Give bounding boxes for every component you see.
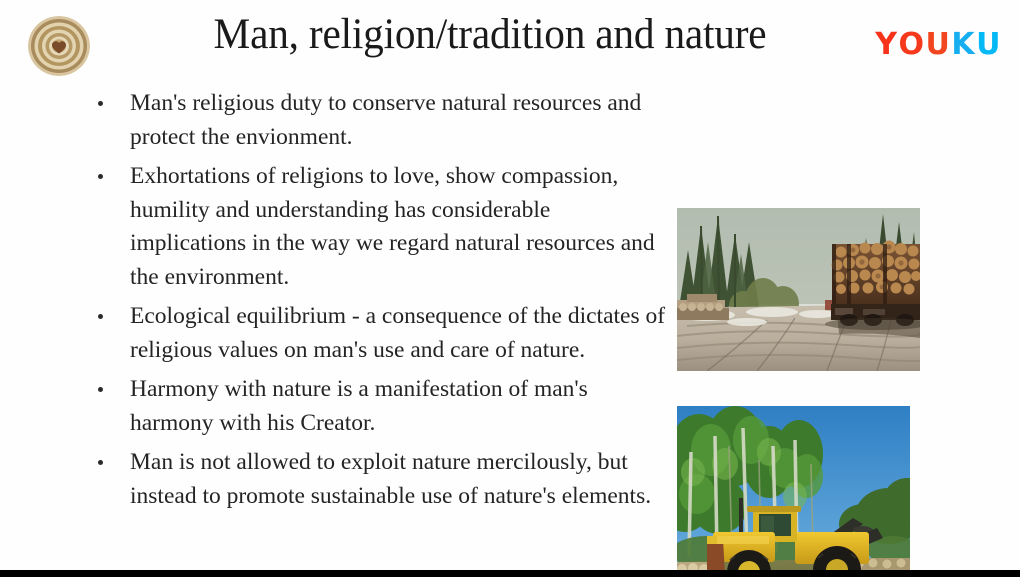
list-item-text: Man is not allowed to exploit nature mer…	[130, 446, 668, 513]
bullet-dot-icon	[98, 314, 103, 319]
youku-letter-u2: U	[976, 30, 1002, 60]
youku-logo: YOUKU	[875, 30, 1002, 60]
youku-letter-o: O	[898, 30, 925, 60]
list-item: Harmony with nature is a manifestation o…	[88, 373, 668, 440]
tree-rings-heart-icon	[24, 12, 94, 80]
photo-logging-truck	[677, 208, 920, 371]
youku-letter-y: Y	[875, 30, 898, 60]
list-item-text: Exhortations of religions to love, show …	[130, 160, 668, 294]
photo-skidder	[677, 406, 910, 577]
list-item: Man's religious duty to conserve natural…	[88, 87, 668, 154]
list-item: Man is not allowed to exploit nature mer…	[88, 446, 668, 513]
bullet-dot-icon	[98, 460, 103, 465]
list-item: Exhortations of religions to love, show …	[88, 160, 668, 294]
bullet-dot-icon	[98, 174, 103, 179]
slide-title: Man, religion/tradition and nature	[135, 8, 845, 62]
list-item-text: Harmony with nature is a manifestation o…	[130, 373, 668, 440]
list-item-text: Ecological equilibrium - a consequence o…	[130, 300, 668, 367]
youku-letter-u1: U	[926, 30, 952, 60]
bullet-dot-icon	[98, 101, 103, 106]
bullet-list: Man's religious duty to conserve natural…	[88, 87, 668, 519]
list-item: Ecological equilibrium - a consequence o…	[88, 300, 668, 367]
list-item-text: Man's religious duty to conserve natural…	[130, 87, 668, 154]
slide-header: Man, religion/tradition and nature YOUKU	[0, 0, 1020, 80]
bullet-dot-icon	[98, 387, 103, 392]
presentation-slide: Man, religion/tradition and nature YOUKU…	[0, 0, 1020, 577]
youku-letter-k: K	[951, 30, 976, 60]
letterbox-bottom-bar	[0, 570, 1020, 577]
slide-content: Man's religious duty to conserve natural…	[0, 80, 1020, 570]
